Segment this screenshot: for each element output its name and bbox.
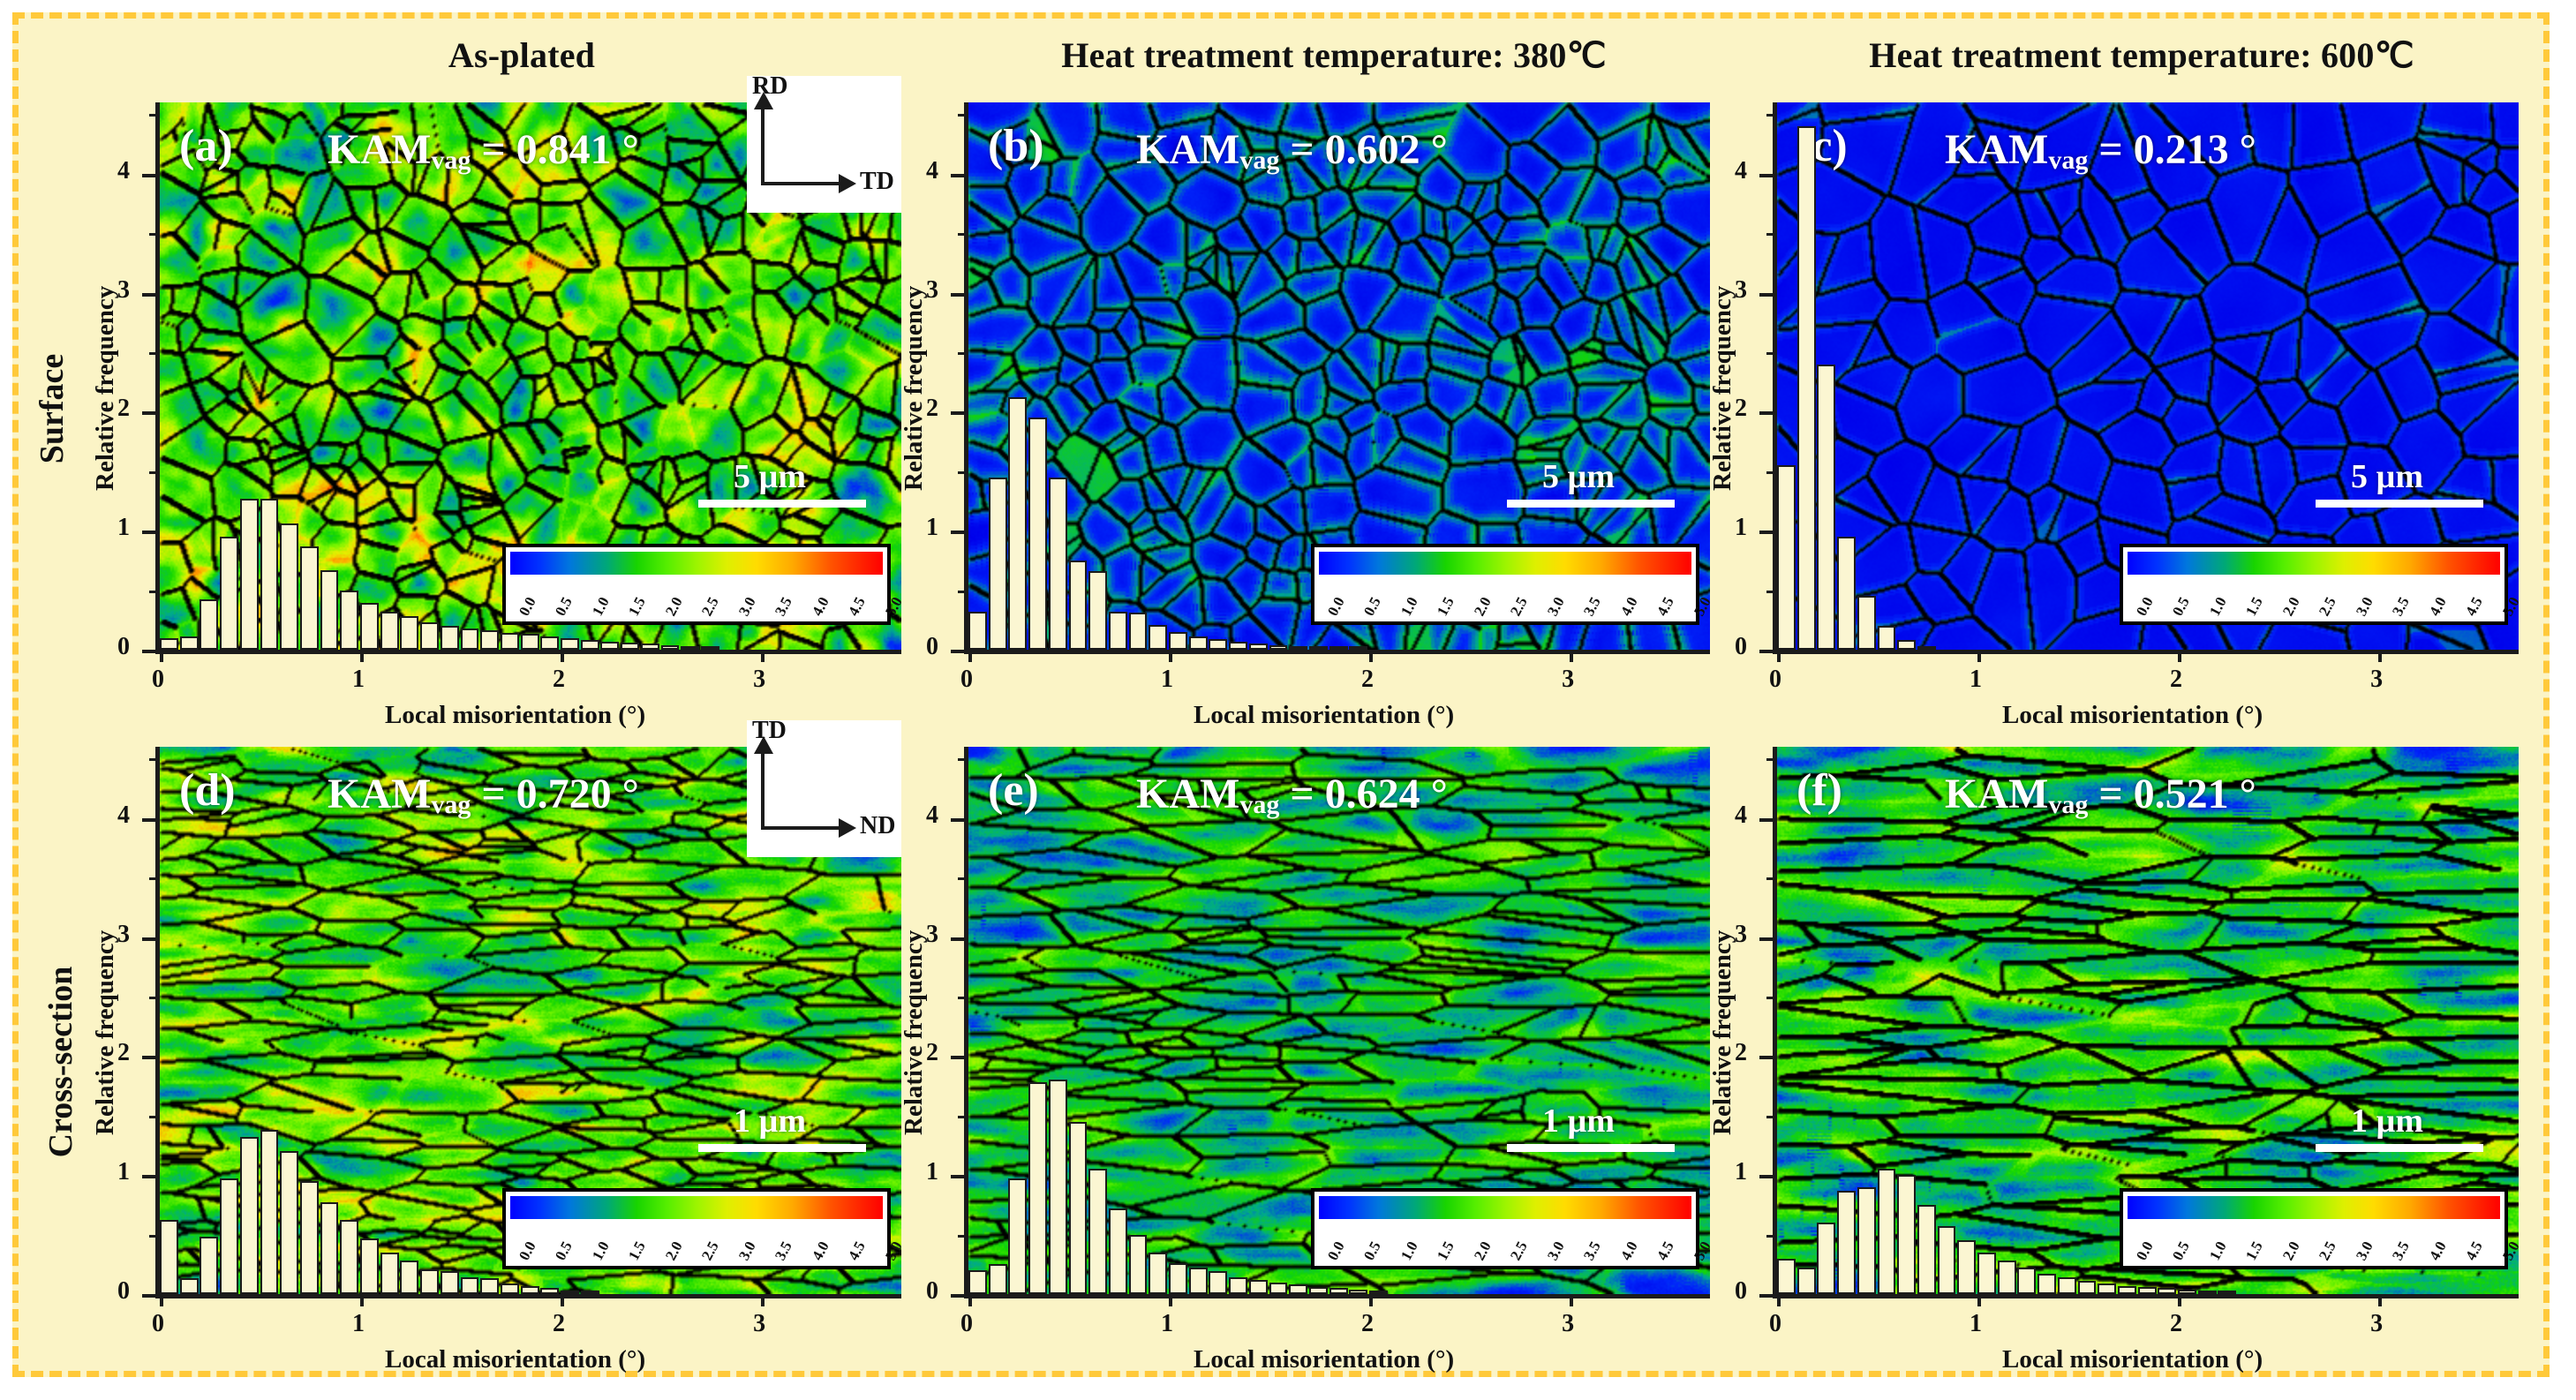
histogram-bar	[2218, 1291, 2236, 1294]
histogram-bar	[540, 1288, 559, 1294]
y-minor-tick	[958, 1116, 968, 1118]
x-tick-1	[1977, 1294, 1981, 1306]
histogram-bar	[1797, 126, 1816, 650]
histogram-bar	[2098, 1283, 2116, 1294]
histogram-bar	[1309, 646, 1328, 650]
y-axis-title-a: Relative frequency	[91, 286, 120, 491]
histogram-bar	[300, 1181, 319, 1294]
histogram-bar	[1028, 1082, 1047, 1294]
histogram-bar	[681, 646, 699, 650]
histogram-bar	[461, 1277, 479, 1294]
y-axis-title-e: Relative frequency	[900, 930, 929, 1135]
histogram-bar	[989, 1264, 1007, 1294]
y-minor-tick	[958, 591, 968, 593]
y-tick-2	[951, 411, 968, 415]
y-minor-tick	[958, 758, 968, 761]
y-minor-tick	[149, 114, 160, 117]
histogram-bar	[1209, 639, 1227, 650]
histogram-bar	[1777, 1259, 1796, 1294]
histogram-bar	[1069, 1122, 1088, 1294]
histogram-bar	[1917, 646, 1936, 650]
x-tick-3	[1570, 1294, 1573, 1306]
x-tick-label-1: 1	[1161, 666, 1173, 694]
y-minor-tick	[1766, 877, 1777, 880]
x-tick-label-0: 0	[1769, 666, 1781, 694]
x-tick-label-1: 1	[1970, 1310, 1982, 1338]
x-tick-label-0: 0	[1769, 1310, 1781, 1338]
y-tick-label-0: 0	[117, 1277, 130, 1306]
y-minor-tick	[958, 877, 968, 880]
histogram-bar	[1269, 1283, 1288, 1294]
x-axis-line-e	[968, 1294, 1710, 1298]
x-tick-label-0: 0	[960, 1310, 973, 1338]
histogram-bar	[180, 636, 199, 650]
y-tick-0	[1759, 650, 1777, 653]
y-tick-1	[951, 1175, 968, 1178]
histogram-bar	[1349, 1290, 1367, 1294]
y-minor-tick	[958, 352, 968, 355]
y-tick-2	[1759, 411, 1777, 415]
histogram-bar	[240, 499, 259, 650]
histogram-bar	[1837, 537, 1856, 650]
histogram-bar	[1837, 1191, 1856, 1294]
histogram-bar	[968, 1270, 987, 1294]
histogram-bar	[2198, 1291, 2217, 1294]
y-minor-tick	[1766, 233, 1777, 236]
histogram-bar	[320, 1202, 339, 1294]
histogram-bar	[1229, 642, 1247, 650]
histogram-bar	[1897, 1175, 1916, 1294]
y-tick-3	[951, 937, 968, 941]
y-minor-tick	[149, 471, 160, 474]
x-tick-label-3: 3	[2370, 666, 2383, 694]
y-minor-tick	[1766, 997, 1777, 999]
x-tick-0	[160, 650, 163, 662]
y-minor-tick	[1766, 758, 1777, 761]
y-minor-tick	[1766, 591, 1777, 593]
histogram-bar	[2178, 1290, 2196, 1294]
y-tick-2	[142, 1056, 160, 1059]
y-tick-label-4: 4	[117, 157, 130, 185]
y-tick-0	[142, 650, 160, 653]
x-tick-3	[761, 650, 765, 662]
histogram-bar	[220, 1178, 238, 1294]
y-tick-3	[142, 293, 160, 297]
x-tick-1	[1977, 650, 1981, 662]
histogram-bar	[1998, 1261, 2016, 1294]
histogram-bar	[600, 642, 619, 650]
histogram-bar	[1008, 1178, 1027, 1294]
x-tick-label-3: 3	[2370, 1310, 2383, 1338]
histogram-bar	[1109, 1208, 1127, 1294]
histogram-bar	[400, 1261, 418, 1294]
histogram-f	[1777, 747, 2519, 1294]
histogram-bar	[400, 616, 418, 650]
y-minor-tick	[149, 591, 160, 593]
histogram-bar	[2138, 1287, 2157, 1294]
histogram-bar	[360, 603, 379, 650]
histogram-bar	[2058, 1277, 2076, 1294]
y-minor-tick	[1766, 114, 1777, 117]
y-tick-label-0: 0	[1735, 1277, 1747, 1306]
x-tick-label-1: 1	[352, 1310, 365, 1338]
histogram-bar	[260, 1130, 279, 1294]
histogram-bar	[521, 1286, 539, 1294]
histogram-bar	[1189, 1268, 1208, 1294]
histogram-bar	[521, 634, 539, 650]
y-minor-tick	[1766, 352, 1777, 355]
histogram-bar	[360, 1238, 379, 1294]
histogram-bar	[1069, 561, 1088, 650]
x-axis-title-d: Local misorientation (°)	[385, 1345, 645, 1374]
x-tick-label-1: 1	[1161, 1310, 1173, 1338]
y-tick-label-0: 0	[117, 633, 130, 661]
x-tick-3	[1570, 650, 1573, 662]
y-minor-tick	[149, 877, 160, 880]
y-minor-tick	[958, 114, 968, 117]
histogram-bar	[420, 1269, 439, 1294]
x-tick-label-2: 2	[553, 666, 565, 694]
y-tick-3	[142, 937, 160, 941]
histogram-bar	[200, 599, 218, 650]
y-tick-label-4: 4	[926, 157, 938, 185]
histogram-bar	[320, 570, 339, 650]
x-tick-1	[360, 1294, 364, 1306]
x-axis-line-a	[160, 650, 901, 654]
orientation-label-up: RD	[752, 72, 787, 101]
histogram-bar	[420, 622, 439, 650]
histogram-bar	[1878, 626, 1896, 650]
histogram-bar	[1049, 1080, 1067, 1294]
histogram-bar	[1309, 1287, 1328, 1294]
y-tick-1	[951, 531, 968, 534]
x-tick-3	[2378, 1294, 2382, 1306]
histogram-bar	[641, 644, 659, 650]
x-tick-label-0: 0	[152, 1310, 164, 1338]
histogram-bar	[280, 523, 298, 650]
y-tick-4	[1759, 818, 1777, 822]
y-minor-tick	[149, 233, 160, 236]
y-tick-0	[1759, 1294, 1777, 1298]
x-tick-2	[1369, 1294, 1373, 1306]
y-axis-title-d: Relative frequency	[91, 930, 120, 1135]
x-tick-0	[1777, 650, 1781, 662]
histogram-bar	[1249, 1280, 1268, 1294]
y-minor-tick	[1766, 1235, 1777, 1238]
histogram-bar	[280, 1151, 298, 1294]
histogram-bar	[160, 638, 178, 650]
histogram-bar	[1878, 1169, 1896, 1294]
histogram-bar	[1088, 571, 1107, 650]
histogram-bar	[200, 1237, 218, 1294]
x-tick-label-2: 2	[2170, 1310, 2182, 1338]
histogram-bar	[1938, 1226, 1956, 1294]
histogram-bar	[581, 640, 599, 650]
y-tick-label-0: 0	[926, 633, 938, 661]
histogram-bar	[501, 633, 519, 650]
y-minor-tick	[149, 1116, 160, 1118]
y-tick-2	[142, 411, 160, 415]
histogram-bar	[380, 1253, 399, 1294]
x-tick-0	[1777, 1294, 1781, 1306]
x-tick-1	[360, 650, 364, 662]
y-minor-tick	[958, 233, 968, 236]
histogram-bar	[1289, 646, 1307, 650]
y-minor-tick	[958, 997, 968, 999]
histogram-bar	[968, 612, 987, 650]
histogram-bar	[260, 499, 279, 650]
histogram-bar	[1349, 646, 1367, 650]
histogram-bar	[581, 1291, 599, 1294]
histogram-bar	[1129, 1235, 1148, 1294]
column-title-380c: Heat treatment temperature: 380℃	[937, 34, 1731, 76]
histogram-bar	[1977, 1253, 1996, 1294]
histogram-e	[968, 747, 1710, 1294]
y-tick-label-4: 4	[1735, 802, 1747, 830]
y-tick-label-0: 0	[926, 1277, 938, 1306]
histogram-bar	[1169, 1263, 1187, 1294]
histogram-d	[160, 747, 901, 1294]
x-tick-3	[2378, 650, 2382, 662]
histogram-bar	[480, 1278, 499, 1294]
y-tick-label-1: 1	[117, 514, 130, 542]
y-tick-label-1: 1	[926, 1158, 938, 1186]
histogram-bar	[501, 1283, 519, 1294]
x-tick-label-3: 3	[753, 666, 765, 694]
histogram-bar	[1028, 418, 1047, 650]
x-tick-2	[561, 1294, 564, 1306]
y-tick-label-4: 4	[926, 802, 938, 830]
x-tick-label-2: 2	[1361, 666, 1374, 694]
x-tick-label-2: 2	[553, 1310, 565, 1338]
y-tick-3	[1759, 293, 1777, 297]
y-tick-label-1: 1	[1735, 1158, 1747, 1186]
histogram-c	[1777, 102, 2519, 650]
histogram-bar	[1008, 397, 1027, 650]
histogram-bar	[1817, 1223, 1835, 1294]
y-tick-3	[1759, 937, 1777, 941]
histogram-bar	[1857, 596, 1876, 650]
histogram-bar	[2158, 1288, 2176, 1294]
column-title-as-plated: As-plated	[124, 34, 919, 76]
panel-d: (d)KAMvag = 0.720 °TDND1 µm0.00.51.01.52…	[27, 720, 930, 1400]
panel-e: (e)KAMvag = 0.624 °1 µm0.00.51.01.52.02.…	[836, 720, 1738, 1400]
orientation-label-up: TD	[752, 717, 787, 745]
histogram-bar	[1109, 612, 1127, 650]
y-minor-tick	[958, 1235, 968, 1238]
histogram-a	[160, 102, 901, 650]
x-axis-line-c	[1777, 650, 2519, 654]
histogram-bar	[1957, 1240, 1976, 1294]
histogram-bar	[1897, 640, 1916, 650]
y-minor-tick	[149, 1235, 160, 1238]
histogram-bar	[1209, 1271, 1227, 1294]
histogram-bar	[989, 478, 1007, 650]
x-tick-2	[2178, 650, 2181, 662]
x-axis-title-e: Local misorientation (°)	[1194, 1345, 1454, 1374]
histogram-bar	[180, 1278, 199, 1294]
y-axis-title-f: Relative frequency	[1708, 930, 1737, 1135]
x-tick-label-0: 0	[152, 666, 164, 694]
y-tick-0	[142, 1294, 160, 1298]
histogram-bar	[1289, 1284, 1307, 1294]
x-axis-line-d	[160, 1294, 901, 1298]
histogram-bar	[1149, 625, 1167, 650]
y-tick-3	[951, 293, 968, 297]
histogram-bar	[1129, 613, 1148, 650]
y-tick-0	[951, 650, 968, 653]
histogram-bar	[1088, 1169, 1107, 1294]
x-tick-label-1: 1	[352, 666, 365, 694]
x-axis-line-b	[968, 650, 1710, 654]
y-minor-tick	[958, 471, 968, 474]
histogram-bar	[561, 638, 579, 650]
y-minor-tick	[1766, 1116, 1777, 1118]
histogram-bar	[701, 646, 719, 650]
panel-a: (a)KAMvag = 0.841 °RDTD5 µm0.00.51.01.52…	[27, 76, 930, 756]
histogram-bar	[2017, 1268, 2036, 1294]
histogram-bar	[1189, 636, 1208, 650]
histogram-bar	[540, 636, 559, 650]
histogram-bar	[1229, 1277, 1247, 1294]
figure-container: As-plated Heat treatment temperature: 38…	[12, 12, 2550, 1377]
y-tick-4	[951, 818, 968, 822]
x-tick-label-2: 2	[2170, 666, 2182, 694]
histogram-bar	[1249, 644, 1268, 650]
histogram-bar	[2037, 1274, 2056, 1294]
x-tick-label-3: 3	[753, 1310, 765, 1338]
x-tick-2	[2178, 1294, 2181, 1306]
y-tick-1	[1759, 531, 1777, 534]
y-tick-1	[142, 1175, 160, 1178]
x-tick-3	[761, 1294, 765, 1306]
histogram-bar	[561, 1291, 579, 1294]
x-tick-label-3: 3	[1562, 1310, 1574, 1338]
x-axis-line-f	[1777, 1294, 2519, 1298]
histogram-bar	[220, 537, 238, 650]
y-tick-4	[142, 818, 160, 822]
y-tick-0	[951, 1294, 968, 1298]
y-tick-1	[1759, 1175, 1777, 1178]
x-tick-label-1: 1	[1970, 666, 1982, 694]
x-axis-title-f: Local misorientation (°)	[2002, 1345, 2263, 1374]
y-axis-title-b: Relative frequency	[900, 286, 929, 491]
histogram-bar	[160, 1220, 178, 1294]
y-tick-label-4: 4	[1735, 157, 1747, 185]
y-tick-label-0: 0	[1735, 633, 1747, 661]
histogram-bar	[1169, 632, 1187, 650]
x-tick-1	[1169, 650, 1172, 662]
panel-c: (c)KAMvag = 0.213 °5 µm0.00.51.01.52.02.…	[1645, 76, 2547, 756]
histogram-bar	[380, 612, 399, 650]
y-minor-tick	[1766, 471, 1777, 474]
histogram-bar	[1329, 1288, 1348, 1294]
histogram-bar	[1329, 646, 1348, 650]
x-tick-0	[968, 1294, 972, 1306]
histogram-bar	[1857, 1187, 1876, 1294]
y-tick-4	[1759, 174, 1777, 177]
column-title-600c: Heat treatment temperature: 600℃	[1744, 34, 2539, 76]
histogram-bar	[441, 1271, 459, 1294]
histogram-bar	[2078, 1281, 2097, 1294]
x-tick-0	[160, 1294, 163, 1306]
panel-b: (b)KAMvag = 0.602 °5 µm0.00.51.01.52.02.…	[836, 76, 1738, 756]
histogram-b	[968, 102, 1710, 650]
y-tick-label-4: 4	[117, 802, 130, 830]
y-minor-tick	[149, 352, 160, 355]
histogram-bar	[340, 591, 358, 650]
y-axis-title-c: Relative frequency	[1708, 286, 1737, 491]
y-minor-tick	[149, 758, 160, 761]
histogram-bar	[1149, 1253, 1167, 1294]
histogram-bar	[461, 628, 479, 650]
x-tick-1	[1169, 1294, 1172, 1306]
y-tick-label-1: 1	[1735, 514, 1747, 542]
histogram-bar	[2118, 1286, 2136, 1294]
y-tick-label-1: 1	[117, 1158, 130, 1186]
histogram-bar	[300, 546, 319, 650]
x-tick-label-2: 2	[1361, 1310, 1374, 1338]
y-tick-4	[142, 174, 160, 177]
histogram-bar	[480, 630, 499, 650]
x-tick-2	[1369, 650, 1373, 662]
histogram-bar	[240, 1137, 259, 1294]
histogram-bar	[340, 1220, 358, 1294]
x-tick-label-0: 0	[960, 666, 973, 694]
panel-f: (f)KAMvag = 0.521 °1 µm0.00.51.01.52.02.…	[1645, 720, 2547, 1400]
histogram-bar	[1777, 465, 1796, 650]
y-minor-tick	[149, 997, 160, 999]
y-tick-4	[951, 174, 968, 177]
y-tick-1	[142, 531, 160, 534]
histogram-bar	[441, 626, 459, 650]
histogram-bar	[661, 645, 680, 650]
histogram-bar	[1049, 478, 1067, 650]
x-tick-2	[561, 650, 564, 662]
x-tick-0	[968, 650, 972, 662]
y-tick-label-1: 1	[926, 514, 938, 542]
histogram-bar	[1797, 1268, 1816, 1294]
histogram-bar	[1817, 365, 1835, 650]
x-tick-label-3: 3	[1562, 666, 1574, 694]
y-tick-2	[1759, 1056, 1777, 1059]
histogram-bar	[1269, 645, 1288, 650]
histogram-bar	[621, 643, 639, 650]
histogram-bar	[1917, 1205, 1936, 1294]
y-tick-2	[951, 1056, 968, 1059]
histogram-bar	[1369, 1291, 1388, 1294]
